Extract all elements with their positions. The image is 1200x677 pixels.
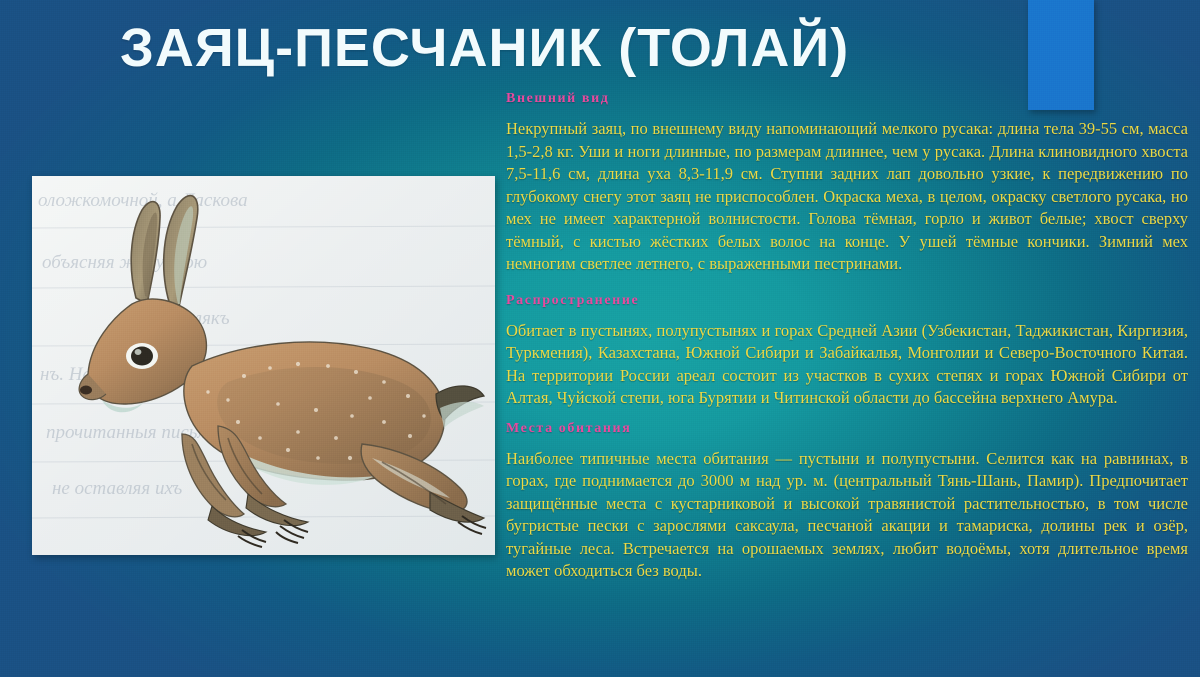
presentation-slide: Заяц-песчаник (толай) — [0, 0, 1200, 677]
section-body-appearance: Некрупный заяц, по внешнему виду напомин… — [506, 118, 1188, 276]
hare-illustration-image: оложкомочной, а Ласкова объясняя жибуемо… — [32, 176, 495, 555]
section-body-habitat: Наиболее типичные места обитания — пусты… — [506, 448, 1188, 583]
section-heading-distribution: Распространение — [506, 292, 1188, 310]
section-distribution: Распространение Обитает в пустынях, полу… — [506, 292, 1188, 410]
section-habitat: Места обитания Наиболее типичные места о… — [506, 420, 1188, 583]
content-text-column: Внешний вид Некрупный заяц, по внешнему … — [506, 90, 1188, 599]
page-title: Заяц-песчаник (толай) — [120, 16, 880, 80]
svg-text:не оставляя ихъ: не оставляя ихъ — [52, 478, 182, 499]
section-appearance: Внешний вид Некрупный заяц, по внешнему … — [506, 90, 1188, 276]
section-heading-appearance: Внешний вид — [506, 90, 1188, 108]
section-heading-habitat: Места обитания — [506, 420, 1188, 438]
section-body-distribution: Обитает в пустынях, полупустынях и горах… — [506, 320, 1188, 410]
